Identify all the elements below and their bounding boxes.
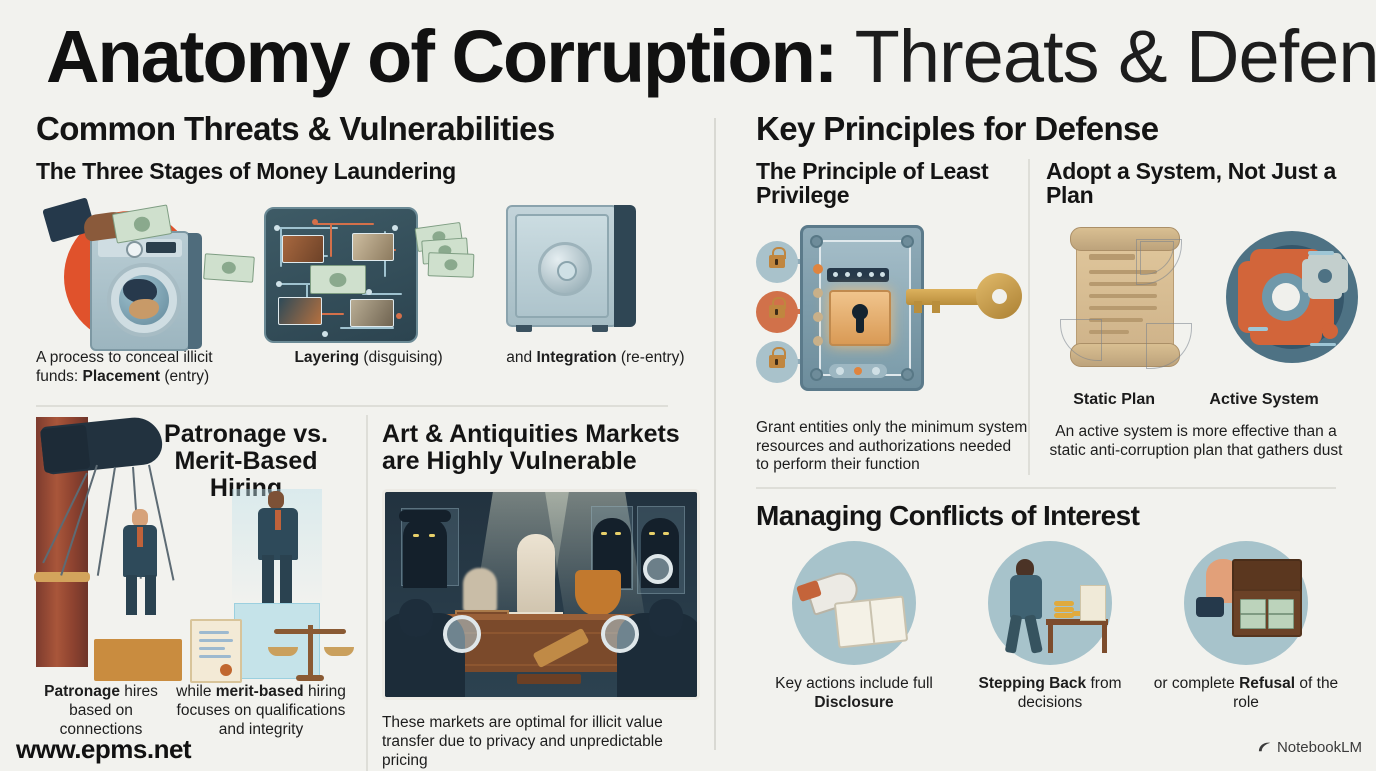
watermark-left: www.epms.net [16, 734, 191, 765]
caption-layering: Layering (disguising) [254, 349, 490, 387]
caption-disclosure: Key actions include full Disclosure [756, 675, 952, 713]
stepping-back-item: Stepping Back from decisions [952, 541, 1148, 713]
caption-refusal: or complete Refusal of the role [1148, 675, 1344, 713]
caption-merit-based: while merit-based hiring focuses on qual… [166, 683, 356, 740]
venus-statue-icon [517, 534, 555, 616]
active-system-gears-icon [1226, 231, 1358, 363]
scales-of-justice-icon [268, 617, 354, 681]
adopt-system-illustration [1046, 215, 1346, 387]
adopt-system-section: Adopt a System, Not Just a Plan [1028, 159, 1346, 476]
conflicts-section: Managing Conflicts of Interest Key actio… [756, 501, 1344, 712]
caption-placement: A process to conceal illicit funds: Plac… [36, 349, 254, 387]
defense-principles-row: The Principle of Least Privilege [756, 159, 1344, 476]
conflicts-heading: Managing Conflicts of Interest [756, 501, 1344, 530]
right-column: Key Principles for Defense The Principle… [756, 112, 1344, 754]
least-privilege-section: The Principle of Least Privilege [756, 159, 1028, 476]
circuit-maze-icon [264, 207, 418, 343]
page-title-light: Threats & Defenses [836, 15, 1376, 98]
refusal-item: or complete Refusal of the role [1148, 541, 1344, 713]
magnifying-glass-icon [443, 615, 481, 653]
magnifying-glass-icon [601, 615, 639, 653]
vault-panel-icon [800, 225, 924, 391]
disclosure-illustration [792, 541, 916, 665]
masked-figure-icon [641, 518, 679, 588]
washing-machine-illustration [36, 191, 236, 343]
patronage-section: Patronage vs. Merit-Based Hiring [36, 415, 366, 771]
infographic-page: Anatomy of Corruption: Threats & Defense… [0, 0, 1376, 768]
merit-figure-icon [248, 491, 308, 607]
caption-adopt-system: An active system is more effective than … [1046, 423, 1346, 461]
left-lower-sections: Patronage vs. Merit-Based Hiring [36, 415, 704, 771]
conflicts-illustrations: Key actions include full Disclosure [756, 541, 1344, 713]
adopt-system-heading: Adopt a System, Not Just a Plan [1046, 159, 1346, 215]
money-laundering-heading: The Three Stages of Money Laundering [36, 159, 704, 184]
integration-safe-illustration [488, 205, 638, 337]
label-static-plan: Static Plan [1073, 391, 1155, 409]
coin-stack-icon [1054, 601, 1074, 606]
certificate-icon [190, 619, 242, 683]
caption-patronage: Patronage hires based on connections [36, 683, 166, 740]
label-active-system: Active System [1209, 391, 1318, 409]
notebooklm-logo-icon [1257, 740, 1272, 755]
watermark-right-label: NotebookLM [1277, 739, 1362, 756]
caption-art-markets: These markets are optimal for illicit va… [382, 714, 704, 771]
layering-maze-illustration [264, 191, 424, 343]
right-column-heading: Key Principles for Defense [756, 112, 1344, 147]
adopt-system-labels: Static Plan Active System [1046, 391, 1346, 409]
left-section-divider [36, 405, 668, 407]
least-privilege-illustration [756, 215, 1028, 407]
washing-machine-icon [90, 231, 190, 351]
masked-figure-icon [403, 518, 447, 588]
patronage-illustration [36, 417, 360, 681]
bust-sculpture-icon [463, 568, 497, 612]
art-markets-heading: Art & Antiquities Markets are Highly Vul… [382, 415, 704, 475]
left-column: Common Threats & Vulnerabilities The Thr… [36, 112, 704, 754]
page-title-bold: Anatomy of Corruption: [46, 15, 836, 98]
money-laundering-illustrations [36, 191, 704, 343]
least-privilege-heading: The Principle of Least Privilege [756, 159, 1028, 215]
patronage-captions: Patronage hires based on connections whi… [36, 683, 368, 740]
caption-least-privilege: Grant entities only the minimum system r… [756, 419, 1028, 476]
caption-stepping-back: Stepping Back from decisions [952, 675, 1148, 713]
briefcase-icon [1232, 589, 1302, 637]
open-book-icon [834, 595, 908, 648]
safe-icon [506, 205, 618, 327]
wooden-pedestal-icon [94, 639, 182, 681]
refusal-illustration [1184, 541, 1308, 665]
page-title: Anatomy of Corruption: Threats & Defense… [46, 14, 1346, 104]
left-column-heading: Common Threats & Vulnerabilities [36, 112, 704, 147]
column-divider [714, 118, 716, 750]
watermark-notebooklm: NotebookLM [1257, 739, 1362, 756]
auction-illustration [382, 489, 700, 700]
banknote-icon [203, 254, 255, 283]
right-section-divider [756, 487, 1336, 489]
puppet-figure-icon [110, 509, 170, 639]
art-markets-section: Art & Antiquities Markets are Highly Vul… [366, 415, 704, 771]
money-laundering-captions: A process to conceal illicit funds: Plac… [36, 349, 704, 387]
caption-integration: and Integration (re-entry) [490, 349, 704, 387]
stepping-back-illustration [988, 541, 1112, 665]
lock-badge-icon [756, 341, 798, 383]
disclosure-item: Key actions include full Disclosure [756, 541, 952, 713]
lock-badge-icon [756, 241, 798, 283]
document-icon [1080, 585, 1106, 621]
lock-badge-active-icon [756, 291, 798, 333]
